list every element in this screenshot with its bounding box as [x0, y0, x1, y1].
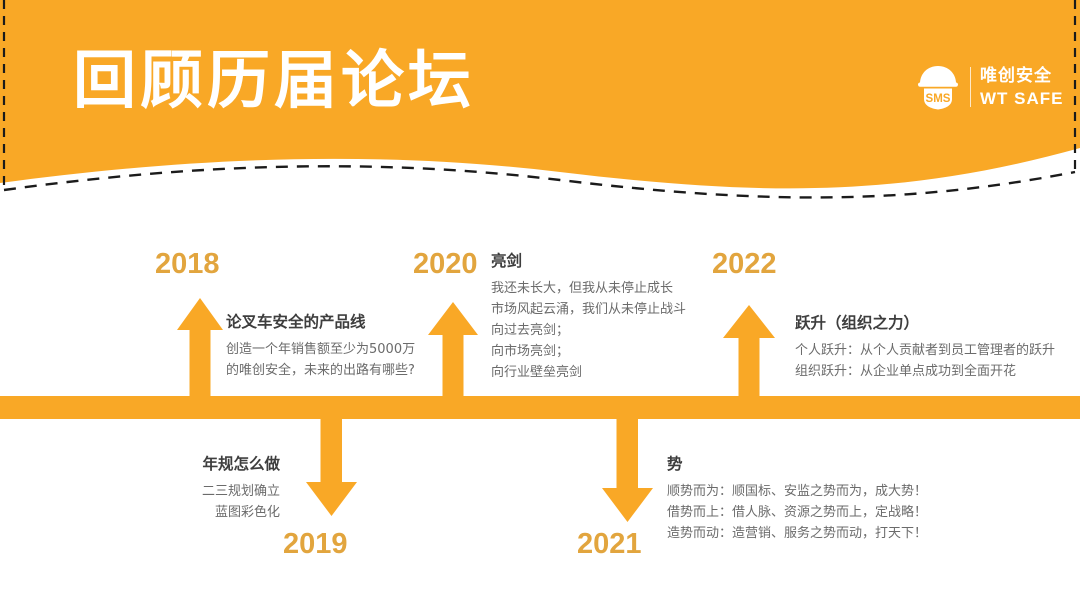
event-line: 蓝图彩色化: [100, 502, 280, 523]
event-title-2020: 亮剑: [491, 249, 686, 271]
logo-name-en: WT SAFE: [980, 90, 1064, 107]
event-title-2022: 跃升（组织之力）: [795, 311, 1055, 333]
event-block-2019: 年规怎么做 二三规划确立 蓝图彩色化: [100, 452, 280, 523]
logo-mark-text: SMS: [926, 93, 951, 105]
event-line: 的唯创安全，未来的出路有哪些?: [226, 360, 415, 381]
event-line: 市场风起云涌，我们从未停止战斗: [491, 299, 686, 320]
header-banner: 回顾历届论坛 SMS 唯创安全 WT SAFE: [0, 0, 1080, 215]
brand-logo: SMS 唯创安全 WT SAFE: [915, 63, 1064, 111]
year-label-2022: 2022: [712, 248, 777, 281]
event-title-2018: 论叉车安全的产品线: [226, 310, 415, 332]
event-block-2022: 跃升（组织之力） 个人跃升：从个人贡献者到员工管理者的跃升 组织跃升：从企业单点…: [795, 311, 1055, 382]
page-title: 回顾历届论坛: [73, 46, 475, 116]
year-label-2019: 2019: [283, 528, 348, 561]
event-line: 向过去亮剑；: [491, 320, 686, 341]
event-block-2018: 论叉车安全的产品线 创造一个年销售额至少为5000万 的唯创安全，未来的出路有哪…: [226, 310, 415, 381]
event-line: 顺势而为：顺国标、安监之势而为，成大势！: [667, 481, 927, 502]
event-title-2019: 年规怎么做: [100, 452, 280, 474]
helmet-icon: SMS: [915, 63, 961, 111]
slide-canvas: 回顾历届论坛 SMS 唯创安全 WT SAFE: [0, 0, 1080, 608]
event-line: 向市场亮剑；: [491, 341, 686, 362]
event-line: 我还未长大，但我从未停止成长: [491, 278, 686, 299]
year-label-2021: 2021: [577, 528, 642, 561]
event-title-2021: 势: [667, 452, 927, 474]
event-line: 借势而上：借人脉、资源之势而上，定战略！: [667, 502, 927, 523]
event-line: 个人跃升：从个人贡献者到员工管理者的跃升: [795, 340, 1055, 361]
event-line: 向行业壁垒亮剑: [491, 362, 686, 383]
event-line: 创造一个年销售额至少为5000万: [226, 339, 415, 360]
year-label-2020: 2020: [413, 248, 478, 281]
timeline-spine: [0, 396, 1080, 419]
event-block-2020: 亮剑 我还未长大，但我从未停止成长 市场风起云涌，我们从未停止战斗 向过去亮剑；…: [491, 249, 686, 383]
event-block-2021: 势 顺势而为：顺国标、安监之势而为，成大势！ 借势而上：借人脉、资源之势而上，定…: [667, 452, 927, 544]
event-line: 组织跃升：从企业单点成功到全面开花: [795, 361, 1055, 382]
event-line: 造势而动：造营销、服务之势而动，打天下！: [667, 523, 927, 544]
year-label-2018: 2018: [155, 248, 220, 281]
logo-name-cn: 唯创安全: [980, 68, 1064, 85]
event-line: 二三规划确立: [100, 481, 280, 502]
logo-divider: [970, 67, 971, 107]
